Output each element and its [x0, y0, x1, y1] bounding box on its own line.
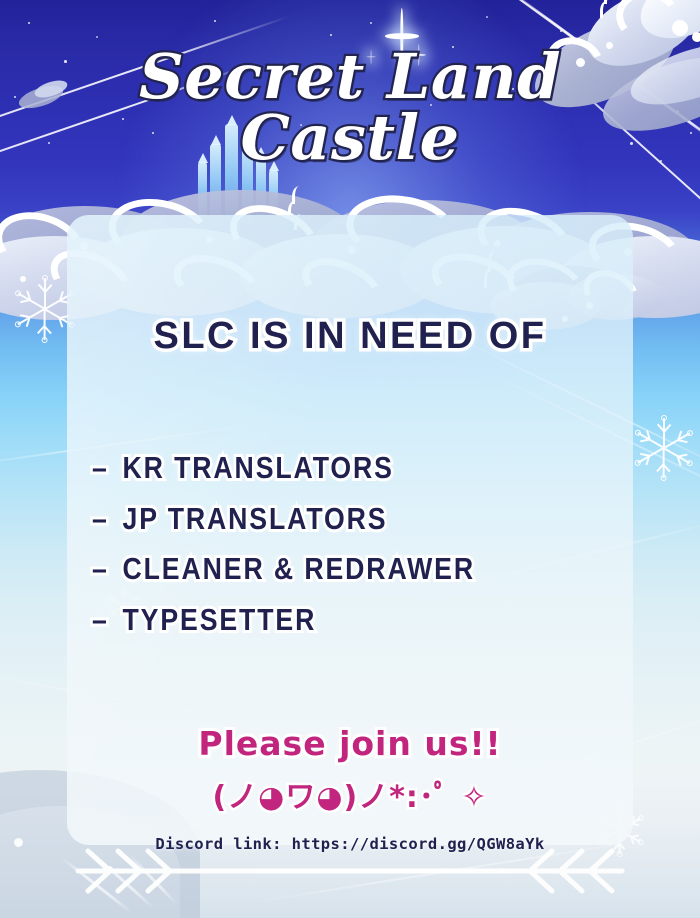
list-item: – TYPESETTER: [92, 597, 505, 644]
list-dash: –: [92, 546, 109, 593]
list-dash: –: [92, 496, 109, 543]
list-item: – CLEANER & REDRAWER: [92, 546, 505, 593]
list-item: – KR TRANSLATORS: [92, 445, 505, 492]
list-item-label: JP TRANSLATORS: [122, 496, 387, 543]
kaomoji-emoticon: (ノ◕ワ◕)ノ*:･ﾟ ✧: [0, 772, 700, 816]
join-call-to-action: Please join us!!: [0, 724, 700, 763]
list-item: – JP TRANSLATORS: [92, 496, 505, 543]
needs-list: – KR TRANSLATORS – JP TRANSLATORS – CLEA…: [92, 445, 572, 647]
list-dash: –: [92, 445, 109, 492]
list-item-label: TYPESETTER: [122, 597, 316, 644]
list-item-label: KR TRANSLATORS: [122, 445, 393, 492]
headline: SLC IS IN NEED OF: [0, 315, 700, 358]
page-title: Secret Land Castle: [0, 48, 700, 168]
list-item-label: CLEANER & REDRAWER: [122, 546, 475, 593]
double-headed-arrow-icon: [0, 846, 700, 896]
promo-poster: Secret Land Castle SLC IS IN NEED OF – K…: [0, 0, 700, 918]
arrow-divider: [0, 846, 700, 896]
list-dash: –: [92, 597, 109, 644]
title-line-2: Castle: [0, 109, 700, 168]
